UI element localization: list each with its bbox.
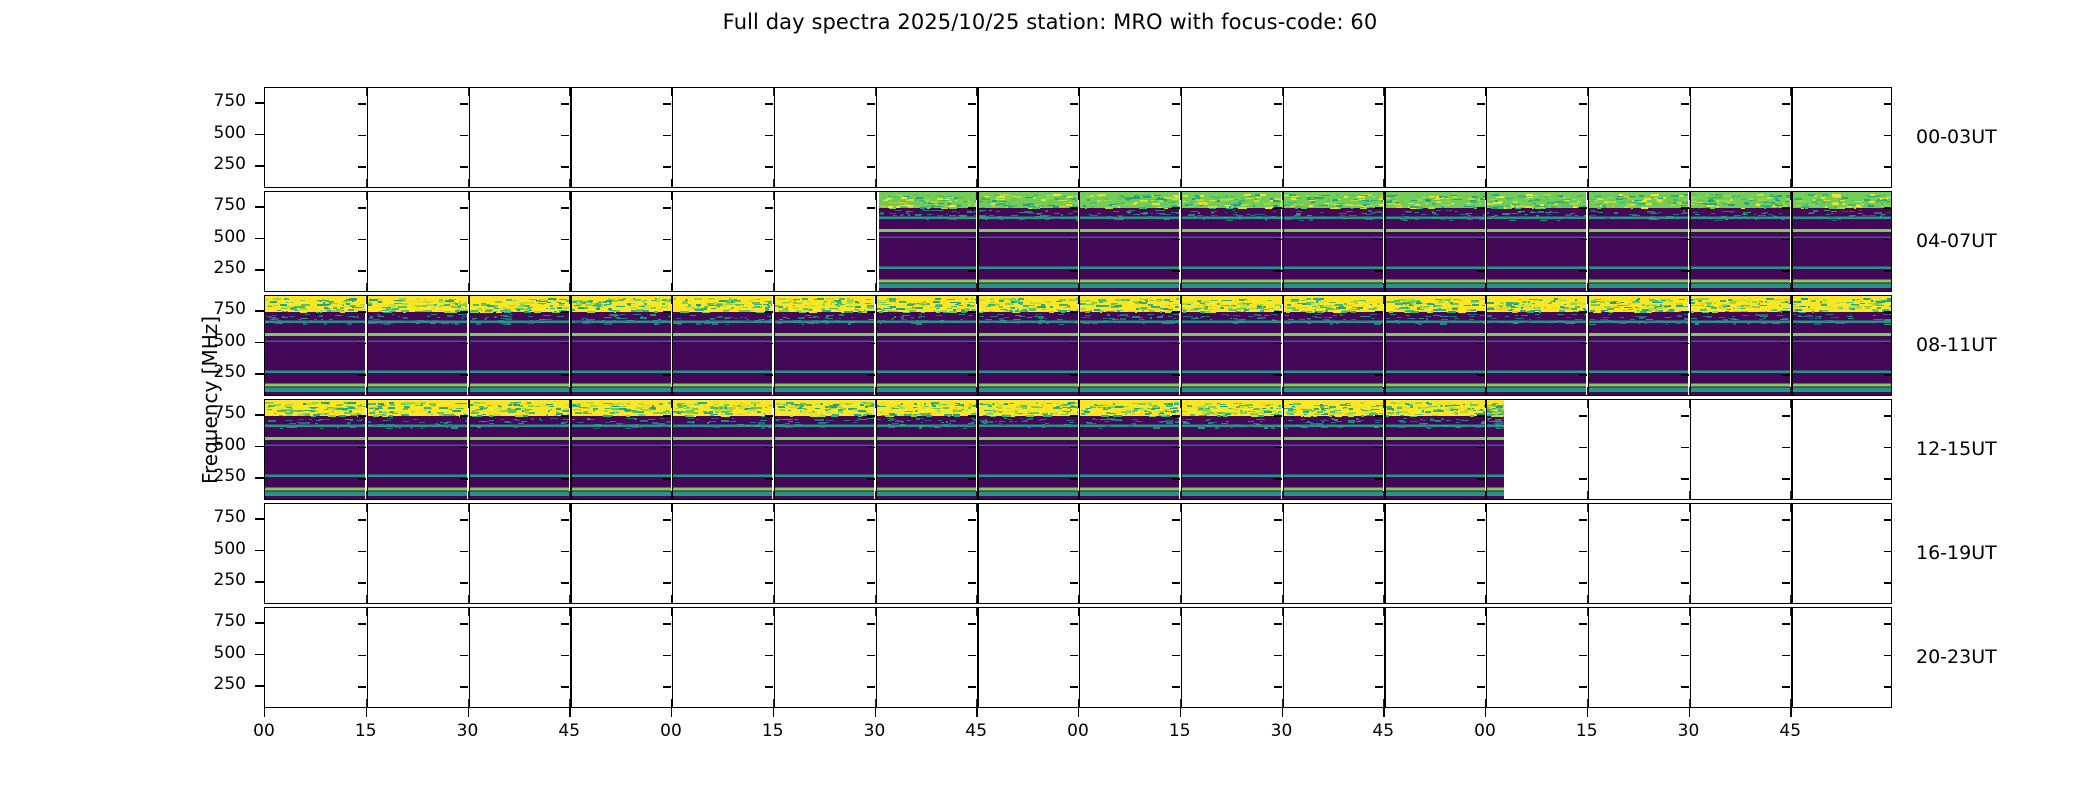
y-tick-mark (255, 477, 264, 478)
x-tick-label: 15 (743, 721, 803, 741)
y-tick-mark (255, 414, 264, 415)
y-tick-stub (765, 478, 773, 479)
panel-spectrum (1079, 192, 1179, 291)
x-tick-stub (1587, 503, 1588, 512)
y-tick-stub (1477, 447, 1485, 448)
x-tick-stub (1790, 491, 1791, 500)
y-tick-stub (1375, 135, 1383, 136)
y-tick-stub (1375, 343, 1383, 344)
panel-separator (469, 192, 470, 291)
x-tick-stub (875, 595, 876, 604)
y-tick-stub (663, 239, 671, 240)
y-tick-stub (358, 655, 366, 656)
x-tick-stub (1180, 699, 1181, 708)
x-tick-stub (366, 595, 367, 604)
x-tick-stub (1689, 283, 1690, 292)
x-tick-stub (1383, 295, 1384, 304)
x-tick-stub (1180, 191, 1181, 200)
x-tick-stub (773, 191, 774, 200)
y-tick-stub (1274, 551, 1282, 552)
y-tick-mark (255, 581, 264, 582)
x-tick-label: 45 (539, 721, 599, 741)
x-tick-stub (569, 283, 570, 292)
y-tick-stub (663, 519, 671, 520)
x-tick-mark (1587, 708, 1588, 717)
heatmap-panel (774, 296, 874, 395)
y-tick-stub (1477, 519, 1485, 520)
panel-separator (977, 504, 978, 603)
panel-spectrum (977, 296, 1077, 395)
heatmap-panel (1384, 296, 1484, 395)
x-tick-stub (366, 699, 367, 708)
y-tick-stub (1274, 478, 1282, 479)
x-tick-mark (1485, 708, 1486, 717)
heatmap-panel (1384, 400, 1484, 499)
panel-separator (774, 608, 775, 707)
x-tick-stub (671, 87, 672, 96)
y-tick-stub (765, 519, 773, 520)
y-tick-stub (1477, 374, 1485, 375)
x-tick-stub (1485, 179, 1486, 188)
y-tick-stub (460, 655, 468, 656)
y-tick-stub (1884, 166, 1891, 167)
panel-separator (1791, 88, 1792, 187)
panel-separator (469, 296, 470, 395)
heatmap-panel (876, 296, 976, 395)
x-tick-stub (366, 191, 367, 200)
panel-separator (570, 88, 571, 187)
y-tick-mark (255, 446, 264, 447)
y-tick-stub (1274, 270, 1282, 271)
heatmap-panel (1181, 192, 1281, 291)
y-tick-stub (1375, 623, 1383, 624)
panel-separator (672, 400, 673, 499)
y-tick-stub (765, 103, 773, 104)
panel-spectrum (774, 400, 874, 499)
panel-separator (774, 192, 775, 291)
y-tick-stub (1884, 582, 1891, 583)
x-tick-label: 45 (946, 721, 1006, 741)
y-tick-label: 750 (184, 611, 246, 631)
heatmap-data (265, 296, 1891, 395)
x-tick-stub (1180, 399, 1181, 408)
panel-separator (1791, 608, 1792, 707)
y-tick-stub (663, 623, 671, 624)
y-tick-stub (663, 270, 671, 271)
y-tick-stub (867, 311, 875, 312)
y-tick-stub (1274, 686, 1282, 687)
y-tick-stub (561, 655, 569, 656)
panel-separator (1283, 504, 1284, 603)
y-tick-stub (460, 166, 468, 167)
x-tick-stub (1180, 87, 1181, 96)
panel-spectrum (1689, 192, 1789, 291)
x-tick-stub (1180, 503, 1181, 512)
x-tick-stub (1587, 491, 1588, 500)
y-tick-label: 750 (184, 403, 246, 423)
x-tick-stub (976, 503, 977, 512)
y-tick-stub (1274, 519, 1282, 520)
x-tick-stub (1383, 179, 1384, 188)
y-tick-stub (867, 103, 875, 104)
spectrogram-row-16-19ut (264, 503, 1892, 604)
x-tick-stub (366, 503, 367, 512)
x-tick-stub (1689, 179, 1690, 188)
y-tick-stub (1172, 582, 1180, 583)
x-tick-stub (1180, 387, 1181, 396)
panel-separator (570, 400, 571, 499)
panel-spectrum (469, 296, 569, 395)
panel-separator (876, 504, 877, 603)
x-tick-stub (1078, 491, 1079, 500)
heatmap-panel (1689, 192, 1789, 291)
x-tick-stub (875, 607, 876, 616)
x-tick-stub (366, 387, 367, 396)
panel-spectrum (265, 296, 365, 395)
y-tick-stub (1681, 135, 1689, 136)
x-tick-stub (1078, 191, 1079, 200)
y-tick-stub (1172, 623, 1180, 624)
x-tick-stub (1180, 283, 1181, 292)
x-tick-stub (569, 179, 570, 188)
y-tick-stub (765, 655, 773, 656)
heatmap-panel (570, 296, 670, 395)
heatmap-panel (1486, 192, 1586, 291)
x-tick-stub (1790, 607, 1791, 616)
y-tick-stub (561, 519, 569, 520)
y-tick-stub (765, 686, 773, 687)
x-tick-stub (569, 491, 570, 500)
heatmap-panel (1791, 296, 1891, 395)
panel-separator (1079, 504, 1080, 603)
x-tick-stub (468, 283, 469, 292)
y-tick-stub (358, 207, 366, 208)
panel-spectrum (570, 296, 670, 395)
panel-separator (1588, 296, 1589, 395)
x-tick-stub (976, 87, 977, 96)
x-tick-stub (468, 491, 469, 500)
y-tick-stub (663, 343, 671, 344)
y-tick-stub (867, 519, 875, 520)
panel-separator (1791, 504, 1792, 603)
y-tick-stub (1782, 415, 1790, 416)
x-tick-stub (1383, 491, 1384, 500)
y-tick-stub (1375, 582, 1383, 583)
y-tick-stub (1375, 311, 1383, 312)
panel-separator (977, 192, 978, 291)
x-tick-stub (875, 399, 876, 408)
y-tick-stub (358, 374, 366, 375)
row-label-00-03ut: 00-03UT (1916, 126, 1997, 148)
y-tick-stub (1477, 343, 1485, 344)
panel-separator (469, 608, 470, 707)
y-tick-stub (1477, 135, 1485, 136)
y-tick-stub (867, 478, 875, 479)
y-tick-stub (765, 166, 773, 167)
y-tick-stub (1681, 311, 1689, 312)
panel-separator (1181, 88, 1182, 187)
y-tick-stub (1274, 623, 1282, 624)
y-tick-stub (1477, 478, 1485, 479)
heatmap-panel (672, 296, 772, 395)
x-tick-stub (671, 283, 672, 292)
heatmap-panel (1283, 400, 1383, 499)
y-tick-stub (1070, 103, 1078, 104)
x-tick-stub (1790, 387, 1791, 396)
x-tick-stub (875, 283, 876, 292)
y-tick-stub (561, 686, 569, 687)
x-tick-stub (1485, 491, 1486, 500)
x-tick-stub (773, 491, 774, 500)
y-tick-label: 250 (184, 570, 246, 590)
y-tick-stub (663, 447, 671, 448)
y-tick-stub (460, 478, 468, 479)
y-tick-stub (765, 239, 773, 240)
y-tick-stub (1274, 207, 1282, 208)
y-tick-mark (255, 206, 264, 207)
y-tick-stub (1579, 655, 1587, 656)
x-tick-stub (1587, 387, 1588, 396)
panel-separator (1283, 296, 1284, 395)
y-tick-mark (255, 342, 264, 343)
x-tick-mark (569, 708, 570, 717)
y-tick-stub (460, 519, 468, 520)
y-tick-mark (255, 165, 264, 166)
row-plot-area (265, 192, 1891, 291)
y-tick-stub (561, 551, 569, 552)
y-tick-stub (1681, 519, 1689, 520)
x-tick-stub (976, 399, 977, 408)
x-tick-stub (1078, 387, 1079, 396)
y-tick-stub (1579, 270, 1587, 271)
x-tick-stub (1485, 699, 1486, 708)
panel-separator (774, 504, 775, 603)
y-tick-stub (1681, 582, 1689, 583)
y-tick-stub (1477, 623, 1485, 624)
heatmap-panel (1079, 192, 1179, 291)
x-tick-stub (1790, 595, 1791, 604)
x-tick-stub (875, 387, 876, 396)
y-tick-stub (1070, 207, 1078, 208)
y-tick-stub (1274, 103, 1282, 104)
y-tick-stub (1681, 655, 1689, 656)
x-tick-label: 15 (336, 721, 396, 741)
panel-separator (469, 400, 470, 499)
y-tick-stub (1681, 103, 1689, 104)
y-tick-stub (561, 239, 569, 240)
panel-separator (672, 192, 673, 291)
y-tick-stub (1070, 343, 1078, 344)
y-tick-stub (1579, 623, 1587, 624)
panel-separator (1690, 608, 1691, 707)
y-tick-stub (1681, 623, 1689, 624)
x-tick-stub (773, 283, 774, 292)
panel-separator (469, 88, 470, 187)
x-tick-stub (1689, 87, 1690, 96)
panel-spectrum (1486, 400, 1504, 499)
x-tick-stub (1078, 399, 1079, 408)
x-tick-stub (773, 699, 774, 708)
y-tick-stub (561, 374, 569, 375)
y-tick-stub (1579, 582, 1587, 583)
y-tick-stub (561, 343, 569, 344)
x-tick-stub (875, 179, 876, 188)
x-tick-stub (671, 491, 672, 500)
y-tick-stub (663, 655, 671, 656)
x-tick-stub (1282, 699, 1283, 708)
x-tick-mark (1282, 708, 1283, 717)
panel-separator (977, 296, 978, 395)
x-tick-stub (1689, 699, 1690, 708)
x-tick-stub (1790, 295, 1791, 304)
y-tick-stub (1070, 135, 1078, 136)
heatmap-panel (1282, 192, 1382, 291)
x-tick-stub (1180, 295, 1181, 304)
panel-separator (1384, 400, 1385, 499)
panel-spectrum (1181, 296, 1281, 395)
y-tick-stub (1579, 207, 1587, 208)
heatmap-panel (1690, 296, 1790, 395)
heatmap-panel (977, 192, 1077, 291)
y-tick-stub (1070, 374, 1078, 375)
x-tick-label: 30 (1659, 721, 1719, 741)
panel-separator (1791, 400, 1792, 499)
row-label-04-07ut: 04-07UT (1916, 230, 1997, 252)
heatmap-panel (265, 400, 365, 499)
figure-title: Full day spectra 2025/10/25 station: MRO… (0, 10, 2100, 34)
heatmap-panel (774, 400, 874, 499)
y-tick-stub (968, 551, 976, 552)
panel-separator (570, 504, 571, 603)
x-tick-stub (1282, 607, 1283, 616)
y-tick-stub (1375, 374, 1383, 375)
y-tick-label: 500 (184, 643, 246, 663)
panel-spectrum (672, 400, 772, 499)
y-tick-mark (255, 310, 264, 311)
panel-separator (367, 504, 368, 603)
y-tick-stub (663, 551, 671, 552)
y-tick-stub (663, 103, 671, 104)
heatmap-panel (977, 400, 1077, 499)
y-tick-stub (663, 311, 671, 312)
spectrogram-row-08-11ut (264, 295, 1892, 396)
x-tick-stub (773, 503, 774, 512)
panel-separator (367, 400, 368, 499)
x-tick-stub (1282, 503, 1283, 512)
x-tick-stub (569, 399, 570, 408)
y-tick-stub (561, 270, 569, 271)
y-tick-stub (867, 447, 875, 448)
y-tick-stub (460, 103, 468, 104)
y-tick-stub (1375, 207, 1383, 208)
x-tick-stub (1587, 399, 1588, 408)
heatmap-panel (469, 400, 569, 499)
y-tick-stub (460, 582, 468, 583)
x-tick-stub (1180, 607, 1181, 616)
y-tick-stub (1782, 686, 1790, 687)
panel-separator (876, 296, 877, 395)
y-tick-stub (968, 311, 976, 312)
panel-separator (774, 400, 775, 499)
y-tick-stub (358, 135, 366, 136)
x-tick-stub (773, 399, 774, 408)
y-tick-stub (1172, 686, 1180, 687)
y-tick-stub (1681, 166, 1689, 167)
y-tick-stub (561, 478, 569, 479)
heatmap-panel (1486, 400, 1504, 499)
y-tick-stub (1070, 686, 1078, 687)
y-tick-stub (1477, 207, 1485, 208)
y-tick-stub (1782, 311, 1790, 312)
y-tick-stub (1681, 239, 1689, 240)
y-tick-stub (1579, 239, 1587, 240)
heatmap-panel (1181, 296, 1281, 395)
x-tick-stub (1790, 191, 1791, 200)
y-tick-stub (765, 207, 773, 208)
panel-spectrum (876, 400, 976, 499)
panel-separator (1181, 192, 1182, 291)
heatmap-panel (1079, 296, 1179, 395)
y-tick-stub (867, 207, 875, 208)
panel-separator (1588, 88, 1589, 187)
y-tick-stub (358, 415, 366, 416)
y-tick-stub (1375, 270, 1383, 271)
y-tick-stub (663, 478, 671, 479)
x-tick-stub (1485, 595, 1486, 604)
y-tick-stub (1070, 270, 1078, 271)
panel-separator (1384, 296, 1385, 395)
x-tick-stub (671, 607, 672, 616)
panel-spectrum (1384, 192, 1484, 291)
x-tick-stub (264, 387, 265, 396)
panel-spectrum (1283, 400, 1383, 499)
panel-separator (977, 608, 978, 707)
y-tick-stub (1782, 519, 1790, 520)
x-tick-stub (1383, 399, 1384, 408)
panel-spectrum (879, 192, 976, 291)
y-tick-stub (460, 374, 468, 375)
y-tick-stub (1172, 374, 1180, 375)
panel-separator (1384, 192, 1385, 291)
y-tick-stub (358, 623, 366, 624)
x-tick-stub (1282, 179, 1283, 188)
panel-separator (977, 88, 978, 187)
y-tick-mark (255, 622, 264, 623)
heatmap-panel (1283, 296, 1383, 395)
x-tick-stub (1587, 295, 1588, 304)
x-tick-mark (1383, 708, 1384, 717)
y-tick-stub (1681, 551, 1689, 552)
x-tick-stub (468, 179, 469, 188)
panel-separator (672, 504, 673, 603)
y-tick-stub (358, 478, 366, 479)
heatmap-panel (977, 296, 1077, 395)
heatmap-panel (367, 296, 467, 395)
y-tick-stub (1172, 311, 1180, 312)
x-tick-stub (1790, 699, 1791, 708)
panel-separator (570, 608, 571, 707)
y-tick-stub (358, 551, 366, 552)
y-tick-stub (460, 551, 468, 552)
x-tick-stub (773, 295, 774, 304)
x-tick-stub (1790, 283, 1791, 292)
y-tick-mark (255, 373, 264, 374)
x-tick-stub (1078, 87, 1079, 96)
panel-separator (1588, 608, 1589, 707)
y-tick-stub (1375, 478, 1383, 479)
heatmap-panel (1791, 192, 1891, 291)
panel-separator (977, 400, 978, 499)
